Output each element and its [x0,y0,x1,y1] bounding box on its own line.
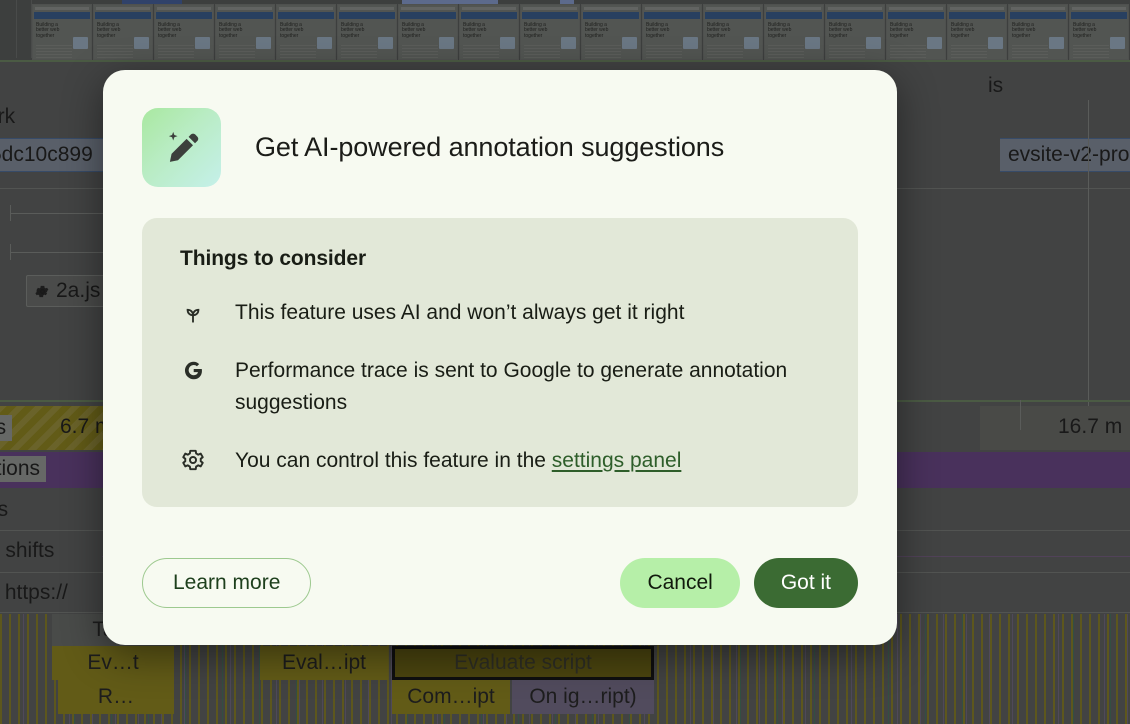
list-item-text: Performance trace is sent to Google to g… [235,355,824,419]
sprout-icon [180,299,206,325]
dialog-footer: Learn more Cancel Got it [142,558,858,645]
considerations-card: Things to consider This feature uses AI … [142,218,858,507]
dialog-header: Get AI-powered annotation suggestions [142,108,858,187]
list-item: You can control this feature in the sett… [180,445,824,477]
list-item: Performance trace is sent to Google to g… [180,355,824,419]
gear-icon [180,447,206,473]
cancel-button[interactable]: Cancel [620,558,739,608]
google-g-icon [180,357,206,383]
list-item: This feature uses AI and won’t always ge… [180,297,824,329]
settings-panel-link[interactable]: settings panel [552,449,682,472]
list-item-text: You can control this feature in the sett… [235,445,681,477]
considerations-list: This feature uses AI and won’t always ge… [180,297,824,477]
learn-more-button[interactable]: Learn more [142,558,311,608]
magic-pencil-icon [142,108,221,187]
card-heading: Things to consider [180,247,824,271]
ai-annotations-consent-dialog: Get AI-powered annotation suggestions Th… [103,70,897,645]
got-it-button[interactable]: Got it [754,558,858,608]
list-item-text-before: You can control this feature in the [235,449,552,472]
list-item-text: This feature uses AI and won’t always ge… [235,297,684,329]
dialog-title: Get AI-powered annotation suggestions [255,132,724,163]
